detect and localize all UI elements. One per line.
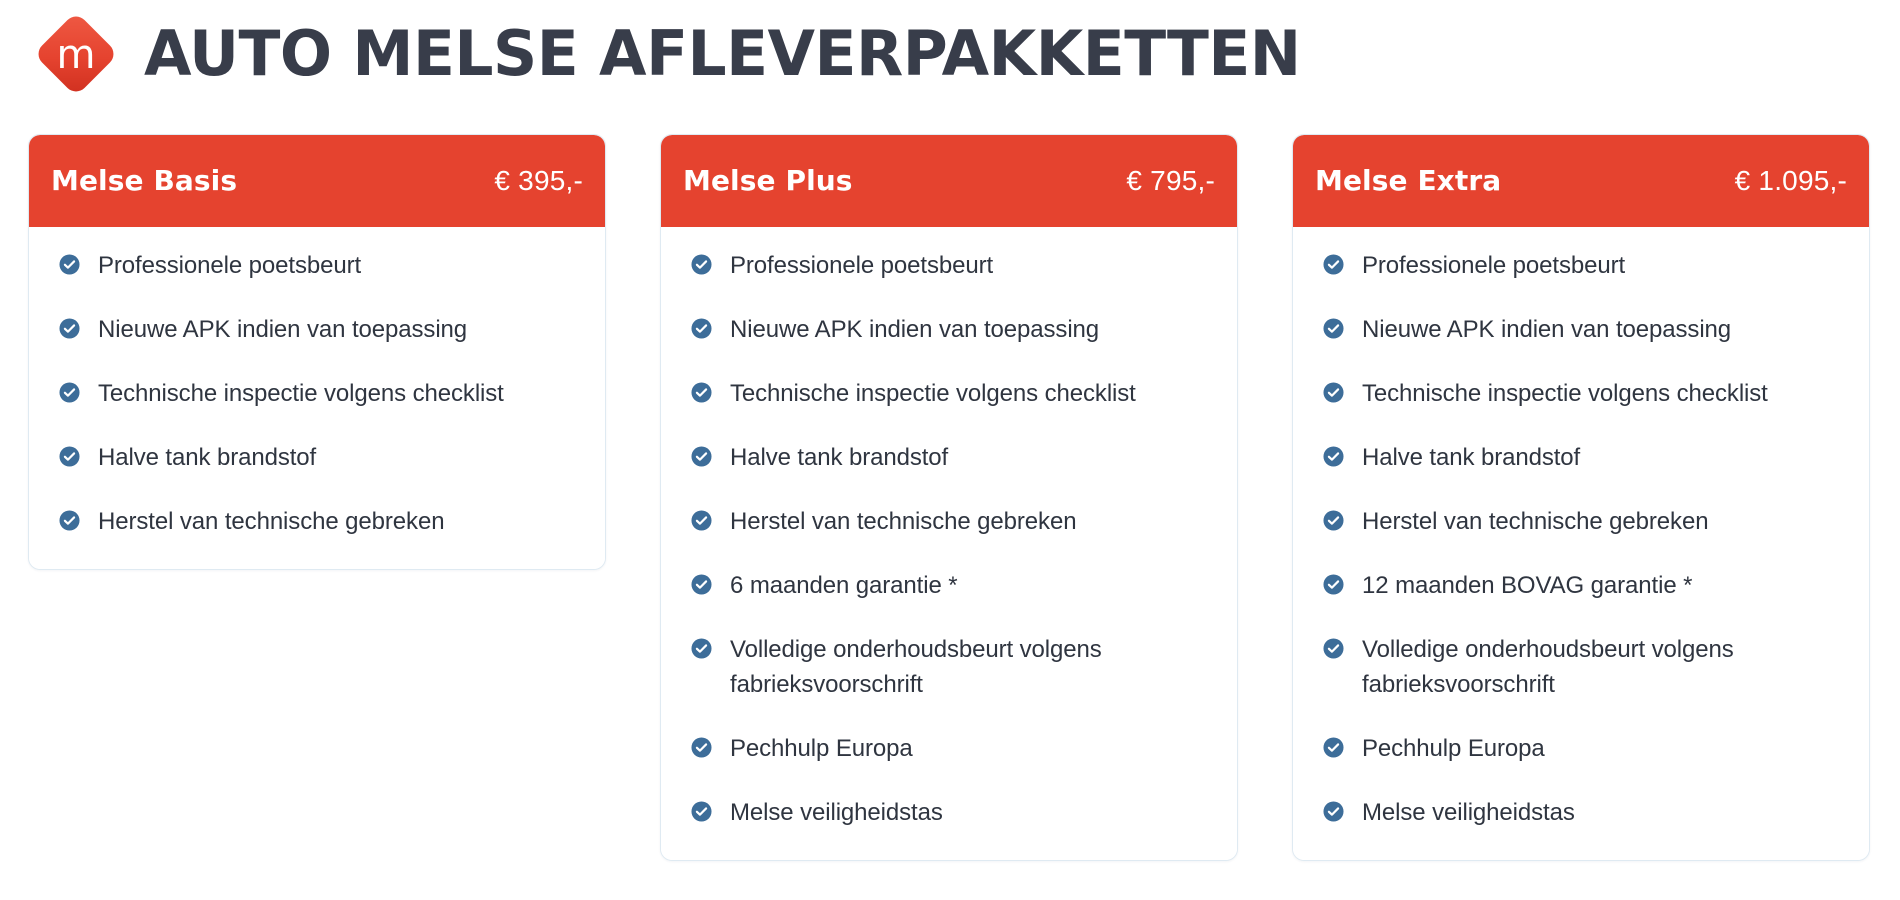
package-card-extra: Melse Extra € 1.095,- Professionele poet… xyxy=(1292,134,1870,861)
feature-label: Professionele poetsbeurt xyxy=(730,249,993,283)
svg-text:m: m xyxy=(57,32,96,78)
afleverpakketten-page: m AUTO MELSE AFLEVERPAKKETTEN Melse Basi… xyxy=(0,0,1900,900)
feature-item: Professionele poetsbeurt xyxy=(683,249,1215,283)
feature-label: Technische inspectie volgens checklist xyxy=(730,377,1136,411)
feature-item: Pechhulp Europa xyxy=(683,732,1215,766)
feature-item: Halve tank brandstof xyxy=(51,441,583,475)
page-title: AUTO MELSE AFLEVERPAKKETTEN xyxy=(144,23,1301,85)
package-card-body: Professionele poetsbeurtNieuwe APK indie… xyxy=(29,227,605,569)
feature-label: 6 maanden garantie * xyxy=(730,569,958,603)
feature-item: Volledige onderhoudsbeurt volgens fabrie… xyxy=(1315,633,1847,701)
feature-item: Herstel van technische gebreken xyxy=(51,505,583,539)
feature-item: Technische inspectie volgens checklist xyxy=(683,377,1215,411)
feature-item: Nieuwe APK indien van toepassing xyxy=(51,313,583,347)
check-circle-icon xyxy=(1323,382,1344,403)
package-card-header: Melse Basis € 395,- xyxy=(29,135,605,227)
check-circle-icon xyxy=(691,801,712,822)
check-circle-icon xyxy=(1323,801,1344,822)
feature-item: Halve tank brandstof xyxy=(1315,441,1847,475)
package-card-body: Professionele poetsbeurtNieuwe APK indie… xyxy=(1293,227,1869,860)
feature-label: Professionele poetsbeurt xyxy=(1362,249,1625,283)
feature-label: Herstel van technische gebreken xyxy=(98,505,444,539)
package-card-plus: Melse Plus € 795,- Professionele poetsbe… xyxy=(660,134,1238,861)
feature-item: Professionele poetsbeurt xyxy=(51,249,583,283)
package-card-header: Melse Extra € 1.095,- xyxy=(1293,135,1869,227)
check-circle-icon xyxy=(1323,510,1344,531)
package-name: Melse Plus xyxy=(683,167,853,195)
package-card-body: Professionele poetsbeurtNieuwe APK indie… xyxy=(661,227,1237,860)
feature-label: Volledige onderhoudsbeurt volgens fabrie… xyxy=(730,633,1200,701)
page-header: m AUTO MELSE AFLEVERPAKKETTEN xyxy=(24,0,1876,108)
check-circle-icon xyxy=(691,737,712,758)
check-circle-icon xyxy=(1323,254,1344,275)
package-name: Melse Extra xyxy=(1315,167,1501,195)
feature-item: 6 maanden garantie * xyxy=(683,569,1215,603)
feature-item: Technische inspectie volgens checklist xyxy=(51,377,583,411)
check-circle-icon xyxy=(1323,574,1344,595)
feature-label: Nieuwe APK indien van toepassing xyxy=(730,313,1099,347)
feature-label: Pechhulp Europa xyxy=(730,732,913,766)
feature-item: Nieuwe APK indien van toepassing xyxy=(1315,313,1847,347)
feature-item: Herstel van technische gebreken xyxy=(1315,505,1847,539)
feature-list: Professionele poetsbeurtNieuwe APK indie… xyxy=(1315,249,1847,830)
feature-label: Melse veiligheidstas xyxy=(1362,796,1575,830)
package-card-header: Melse Plus € 795,- xyxy=(661,135,1237,227)
feature-item: Melse veiligheidstas xyxy=(683,796,1215,830)
package-card-basis: Melse Basis € 395,- Professionele poetsb… xyxy=(28,134,606,570)
check-circle-icon xyxy=(691,318,712,339)
feature-label: Nieuwe APK indien van toepassing xyxy=(98,313,467,347)
feature-item: Halve tank brandstof xyxy=(683,441,1215,475)
check-circle-icon xyxy=(59,318,80,339)
package-price: € 1.095,- xyxy=(1735,167,1847,195)
check-circle-icon xyxy=(1323,446,1344,467)
check-circle-icon xyxy=(691,254,712,275)
feature-label: Melse veiligheidstas xyxy=(730,796,943,830)
feature-label: Professionele poetsbeurt xyxy=(98,249,361,283)
check-circle-icon xyxy=(691,382,712,403)
feature-item: Pechhulp Europa xyxy=(1315,732,1847,766)
package-price: € 395,- xyxy=(494,167,583,195)
check-circle-icon xyxy=(691,574,712,595)
feature-label: Technische inspectie volgens checklist xyxy=(98,377,504,411)
feature-item: Professionele poetsbeurt xyxy=(1315,249,1847,283)
feature-label: Herstel van technische gebreken xyxy=(730,505,1076,539)
feature-label: Halve tank brandstof xyxy=(98,441,316,475)
check-circle-icon xyxy=(59,446,80,467)
package-name: Melse Basis xyxy=(51,167,237,195)
melse-diamond-logo-icon: m xyxy=(28,6,124,102)
feature-item: Volledige onderhoudsbeurt volgens fabrie… xyxy=(683,633,1215,701)
feature-label: Halve tank brandstof xyxy=(1362,441,1580,475)
feature-item: Herstel van technische gebreken xyxy=(683,505,1215,539)
feature-label: Nieuwe APK indien van toepassing xyxy=(1362,313,1731,347)
check-circle-icon xyxy=(691,510,712,531)
package-price: € 795,- xyxy=(1126,167,1215,195)
check-circle-icon xyxy=(691,446,712,467)
feature-label: Pechhulp Europa xyxy=(1362,732,1545,766)
feature-label: Herstel van technische gebreken xyxy=(1362,505,1708,539)
check-circle-icon xyxy=(691,638,712,659)
feature-label: 12 maanden BOVAG garantie * xyxy=(1362,569,1692,603)
feature-item: 12 maanden BOVAG garantie * xyxy=(1315,569,1847,603)
feature-item: Technische inspectie volgens checklist xyxy=(1315,377,1847,411)
check-circle-icon xyxy=(1323,318,1344,339)
check-circle-icon xyxy=(59,254,80,275)
check-circle-icon xyxy=(1323,737,1344,758)
feature-label: Technische inspectie volgens checklist xyxy=(1362,377,1768,411)
feature-item: Nieuwe APK indien van toepassing xyxy=(683,313,1215,347)
check-circle-icon xyxy=(59,382,80,403)
feature-label: Halve tank brandstof xyxy=(730,441,948,475)
feature-item: Melse veiligheidstas xyxy=(1315,796,1847,830)
check-circle-icon xyxy=(1323,638,1344,659)
feature-list: Professionele poetsbeurtNieuwe APK indie… xyxy=(51,249,583,539)
feature-list: Professionele poetsbeurtNieuwe APK indie… xyxy=(683,249,1215,830)
package-cards-row: Melse Basis € 395,- Professionele poetsb… xyxy=(24,108,1876,861)
check-circle-icon xyxy=(59,510,80,531)
feature-label: Volledige onderhoudsbeurt volgens fabrie… xyxy=(1362,633,1832,701)
